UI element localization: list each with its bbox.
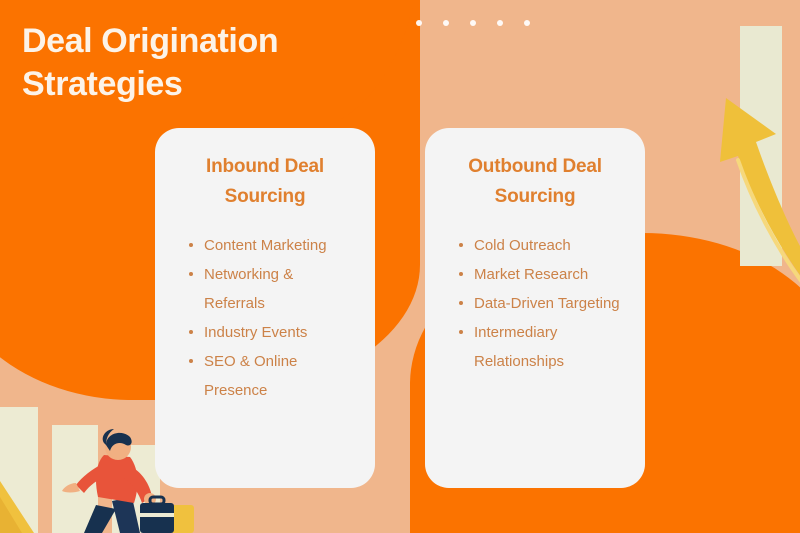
card-list-inbound: Content Marketing Networking & Referrals… [173, 231, 357, 405]
card-list-outbound: Cold Outreach Market Research Data-Drive… [443, 231, 627, 376]
decorative-dot [497, 20, 503, 26]
card-title-outbound: Outbound Deal Sourcing [443, 152, 627, 213]
card-outbound-deal-sourcing: Outbound Deal Sourcing Cold Outreach Mar… [425, 128, 645, 488]
decorative-dot-row [416, 20, 530, 26]
decorative-dot [443, 20, 449, 26]
card-container: Inbound Deal Sourcing Content Marketing … [155, 128, 645, 488]
list-item: Content Marketing [189, 231, 357, 260]
page-title-line-1: Deal Origination [22, 20, 382, 63]
card-title-inbound: Inbound Deal Sourcing [173, 152, 357, 213]
card-inbound-deal-sourcing: Inbound Deal Sourcing Content Marketing … [155, 128, 375, 488]
decorative-dot [470, 20, 476, 26]
infographic-canvas: Deal Origination Strategies Inbound Deal… [0, 0, 800, 533]
page-title-line-2: Strategies [22, 63, 382, 106]
card-title-outbound-line-2: Sourcing [495, 186, 576, 207]
card-title-outbound-line-1: Outbound Deal [468, 156, 602, 177]
list-item: Networking & Referrals [189, 260, 357, 318]
list-item: Cold Outreach [459, 231, 627, 260]
list-item: Industry Events [189, 318, 357, 347]
upward-curved-arrow-icon [690, 38, 800, 298]
decorative-dot [524, 20, 530, 26]
decorative-dot [416, 20, 422, 26]
list-item: Intermediary Relationships [459, 318, 627, 376]
card-title-inbound-line-2: Sourcing [225, 186, 306, 207]
list-item: Data-Driven Targeting [459, 289, 627, 318]
page-title: Deal Origination Strategies [22, 20, 382, 105]
card-title-inbound-line-1: Inbound Deal [206, 156, 324, 177]
list-item: SEO & Online Presence [189, 347, 357, 405]
list-item: Market Research [459, 260, 627, 289]
